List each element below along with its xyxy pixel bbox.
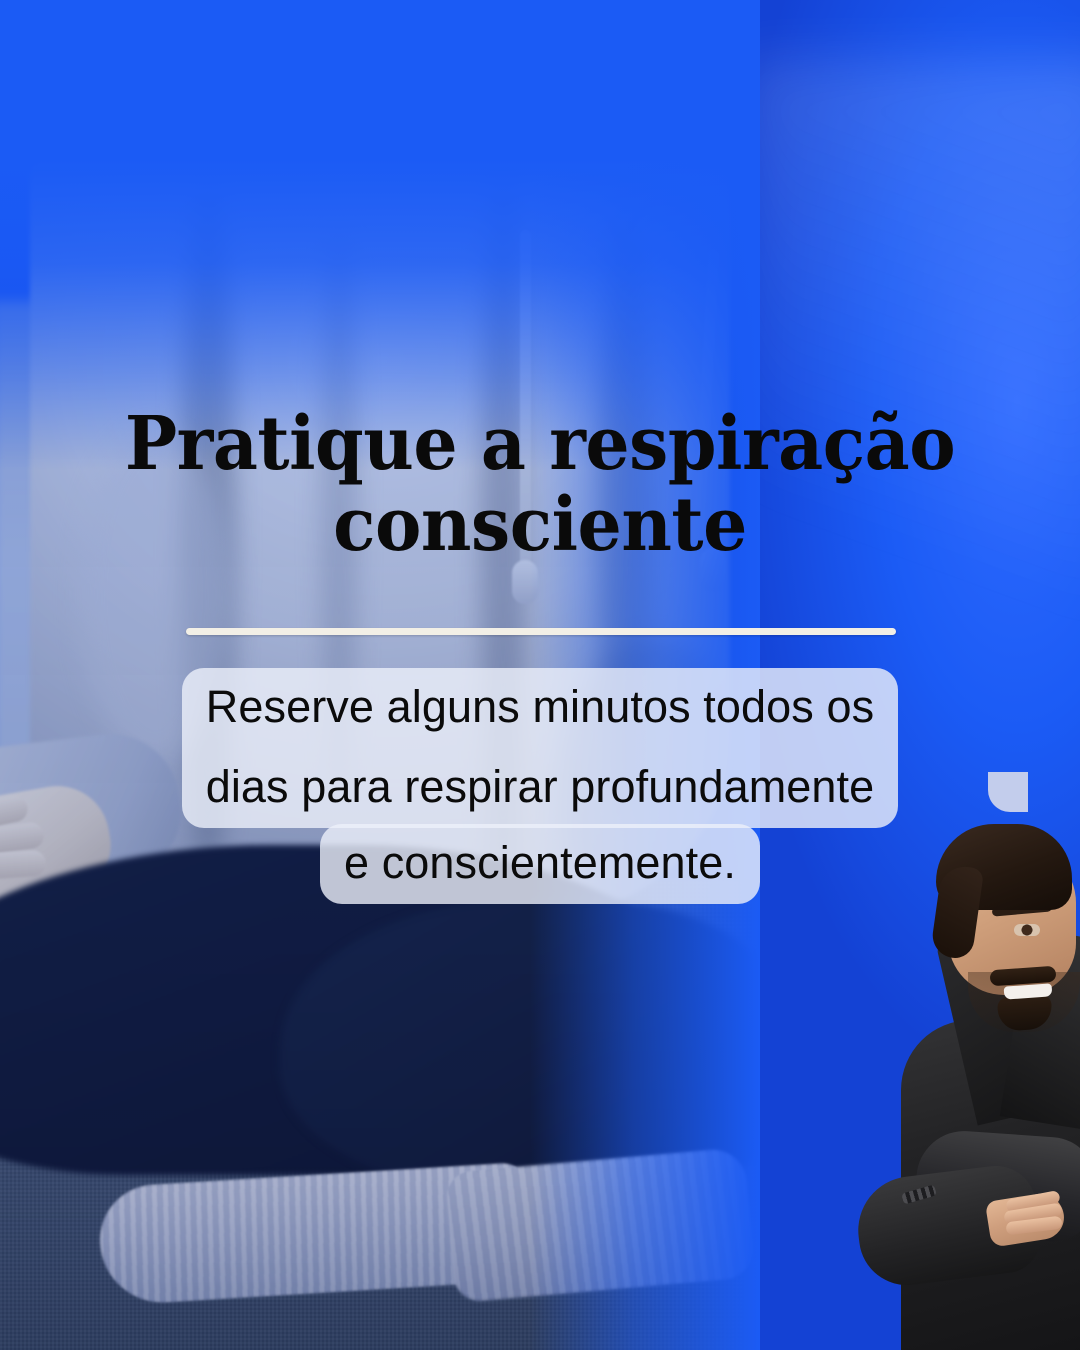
body-line-2: dias para respirar profundamente bbox=[182, 748, 899, 828]
social-post-canvas: Pratique a respiração consciente Reserve… bbox=[0, 0, 1080, 1350]
page-title: Pratique a respiração consciente bbox=[32, 404, 1047, 565]
body-line-3: e conscientemente. bbox=[320, 824, 760, 904]
title-line-1: Pratique a respiração bbox=[125, 401, 955, 487]
title-line-2: consciente bbox=[333, 482, 747, 568]
presenter-eye bbox=[1014, 924, 1040, 936]
body-line-1: Reserve alguns minutos todos os bbox=[182, 668, 898, 748]
presenter-cutout bbox=[896, 775, 1080, 1350]
horizontal-rule-divider bbox=[186, 628, 896, 635]
